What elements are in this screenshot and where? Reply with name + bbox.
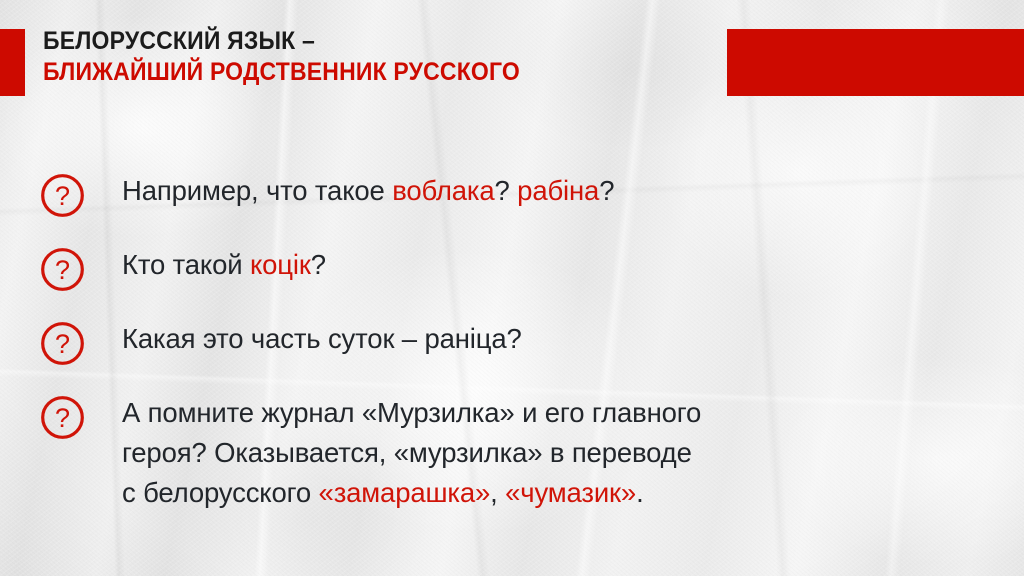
question-text-line: Например, что такое воблака? рабіна? [122,171,982,211]
text-segment: ? [599,175,614,206]
highlighted-term: коцік [250,249,311,280]
page-title-line-1: БЕЛОРУССКИЙ ЯЗЫК – [43,27,520,55]
svg-text:?: ? [55,403,70,433]
text-segment: , [490,477,505,508]
question-item: ?А помните журнал «Мурзилка» и его главн… [0,392,1024,513]
highlighted-term: воблака [392,175,494,206]
header-accent-block-left [0,29,25,96]
question-text: Какая это часть суток – раніца? [122,318,982,359]
question-text-line: героя? Оказывается, «мурзилка» в перевод… [122,433,982,473]
svg-text:?: ? [55,181,70,211]
svg-text:?: ? [55,329,70,359]
question-text-line: А помните журнал «Мурзилка» и его главно… [122,393,982,433]
question-mark-circle-icon: ? [40,395,85,440]
question-mark-circle-icon: ? [40,321,85,366]
text-segment: А помните журнал «Мурзилка» и его главно… [122,397,701,428]
text-segment: с белорусского [122,477,319,508]
question-mark-circle-icon: ? [40,247,85,292]
question-mark-circle-icon: ? [40,173,85,218]
question-item: ?Например, что такое воблака? рабіна? [0,170,1024,218]
highlighted-term: «чумазик» [505,477,636,508]
question-text: Кто такой коцік? [122,244,982,285]
page-title: БЕЛОРУССКИЙ ЯЗЫК – БЛИЖАЙШИЙ РОДСТВЕННИК… [43,27,561,86]
question-list: ?Например, что такое воблака? рабіна??Кт… [0,170,1024,513]
question-text: Например, что такое воблака? рабіна? [122,170,982,211]
text-segment: ? [495,175,518,206]
question-item: ?Какая это часть суток – раніца? [0,318,1024,366]
page-title-line-2: БЛИЖАЙШИЙ РОДСТВЕННИК РУССКОГО [43,58,520,86]
text-segment: . [636,477,644,508]
highlighted-term: рабіна [517,175,599,206]
highlighted-term: «замарашка» [319,477,491,508]
header-accent-block-right [727,29,1024,96]
text-segment: Например, что такое [122,175,392,206]
text-segment: Кто такой [122,249,250,280]
question-text-line: Кто такой коцік? [122,245,982,285]
text-segment: героя? Оказывается, «мурзилка» в перевод… [122,437,692,468]
text-segment: ? [311,249,326,280]
question-item: ?Кто такой коцік? [0,244,1024,292]
question-text: А помните журнал «Мурзилка» и его главно… [122,392,982,513]
question-text-line: Какая это часть суток – раніца? [122,319,982,359]
svg-text:?: ? [55,255,70,285]
slide-canvas: БЕЛОРУССКИЙ ЯЗЫК – БЛИЖАЙШИЙ РОДСТВЕННИК… [0,0,1024,576]
text-segment: Какая это часть суток – раніца? [122,323,522,354]
question-text-line: с белорусского «замарашка», «чумазик». [122,473,982,513]
